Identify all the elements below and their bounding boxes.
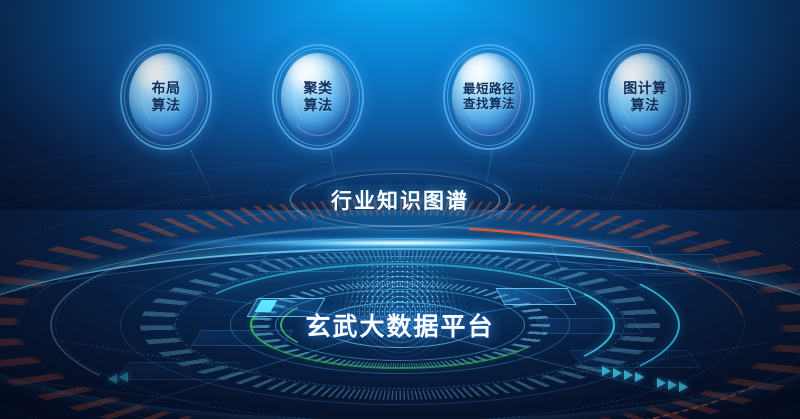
node-sphere: 图计算 算法 — [608, 53, 682, 141]
node-label: 布局 算法 — [152, 80, 181, 113]
node-graph-compute-algorithm[interactable]: 图计算 算法 — [599, 44, 691, 150]
node-layout-algorithm[interactable]: 布局 算法 — [120, 44, 212, 150]
node-sphere: 最短路径 查找算法 — [452, 53, 526, 141]
node-shortest-path-algorithm[interactable]: 最短路径 查找算法 — [443, 44, 535, 150]
node-label: 图计算 算法 — [623, 80, 667, 113]
platform-title: 玄武大数据平台 — [305, 307, 494, 343]
knowledge-graph-text: 行业知识图谱 — [331, 185, 469, 215]
node-label: 聚类 算法 — [304, 80, 333, 113]
tech-banner-scene: 布局 算法 聚类 算法 最短路径 查找算法 图计算 算法 — [0, 0, 800, 419]
node-sphere: 聚类 算法 — [281, 53, 355, 141]
node-sphere: 布局 算法 — [129, 53, 203, 141]
node-clustering-algorithm[interactable]: 聚类 算法 — [272, 44, 364, 150]
knowledge-graph-label[interactable]: 行业知识图谱 — [290, 169, 510, 231]
node-label: 最短路径 查找算法 — [463, 82, 515, 112]
